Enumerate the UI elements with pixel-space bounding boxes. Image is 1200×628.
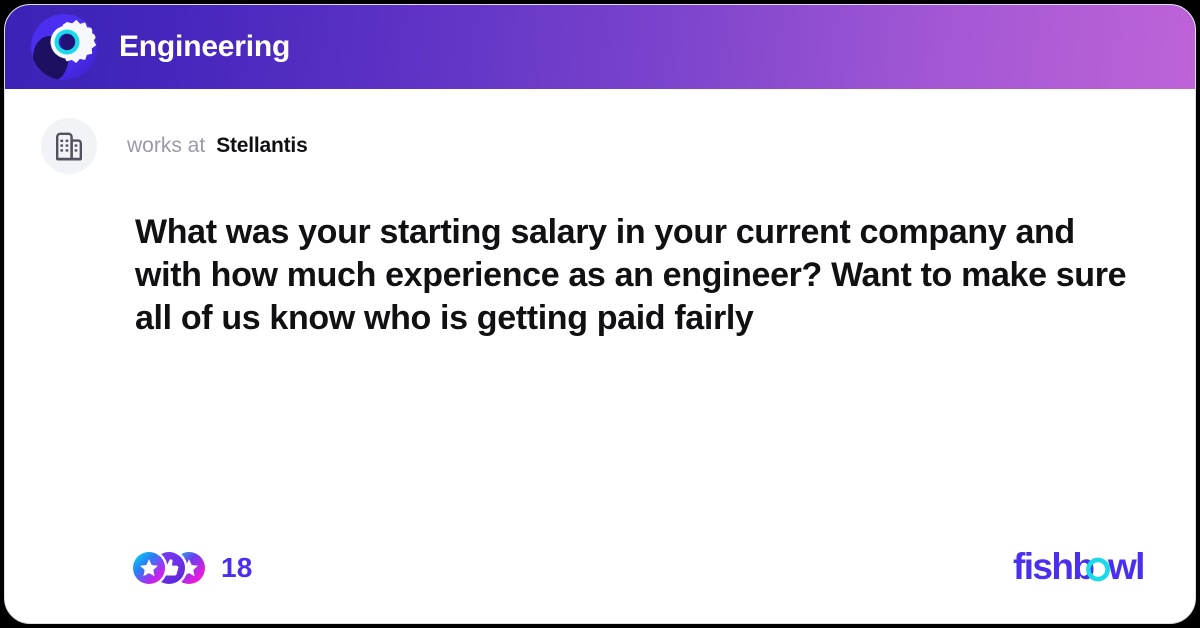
post-footer: 18 fishb wl [5,545,1195,591]
office-building-icon [52,129,86,163]
fishbowl-wordmark: fishb wl [1013,547,1157,589]
fishbowl-post-card: Engineering [4,4,1196,624]
author-meta: works at Stellantis [127,134,308,158]
works-at-label: works at [127,134,205,158]
company-name[interactable]: Stellantis [216,134,307,158]
star-reaction-icon[interactable] [133,552,165,584]
avatar [41,118,97,174]
bowl-title: Engineering [119,30,290,64]
post-body: works at Stellantis What was your starti… [5,89,1195,623]
post-question: What was your starting salary in your cu… [135,211,1135,340]
author-row[interactable]: works at Stellantis [5,118,1195,174]
gear-icon-glyph [31,14,97,80]
reaction-count: 18 [221,552,253,584]
svg-text:fishb: fishb [1013,547,1094,587]
bowl-header[interactable]: Engineering [5,5,1195,89]
fishbowl-logo[interactable]: fishb wl [1013,547,1157,589]
svg-text:wl: wl [1107,547,1144,587]
fishbowl-gear-icon [31,14,97,80]
reactions-group[interactable]: 18 [133,552,253,584]
reaction-stack[interactable] [133,552,205,584]
star-glyph [133,552,165,584]
